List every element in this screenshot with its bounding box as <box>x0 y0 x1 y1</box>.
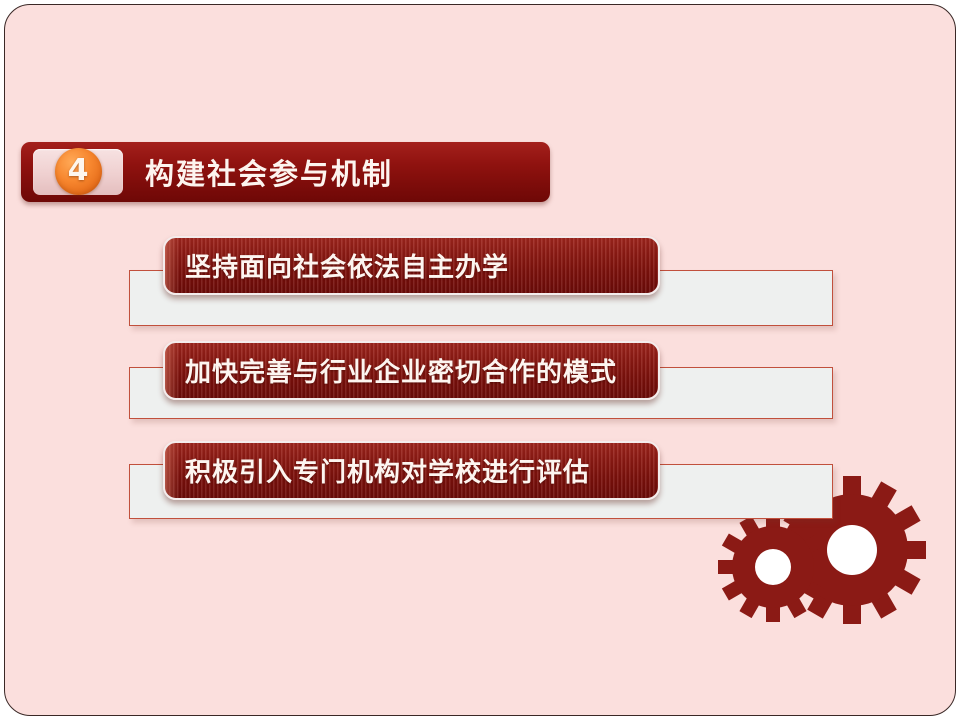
section-number-badge: 4 <box>55 148 102 195</box>
section-header-bar: 4 构建社会参与机制 <box>21 142 550 202</box>
gear-small-icon <box>718 512 828 622</box>
section-number-text: 4 <box>68 156 89 186</box>
content-label-3: 积极引入专门机构对学校进行评估 <box>185 452 590 489</box>
content-label-2: 加快完善与行业企业密切合作的模式 <box>185 352 617 389</box>
content-pill-1[interactable]: 坚持面向社会依法自主办学 <box>163 236 660 295</box>
content-pill-2[interactable]: 加快完善与行业企业密切合作的模式 <box>163 341 660 400</box>
content-pill-3[interactable]: 积极引入专门机构对学校进行评估 <box>163 441 660 500</box>
page-title: 构建社会参与机制 <box>145 151 393 193</box>
content-label-1: 坚持面向社会依法自主办学 <box>185 247 509 284</box>
section-number-plate: 4 <box>33 149 123 195</box>
slide-canvas: 4 构建社会参与机制 坚持面向社会依法自主办学 加快完善与行业企业密切合作的模式… <box>4 4 956 716</box>
